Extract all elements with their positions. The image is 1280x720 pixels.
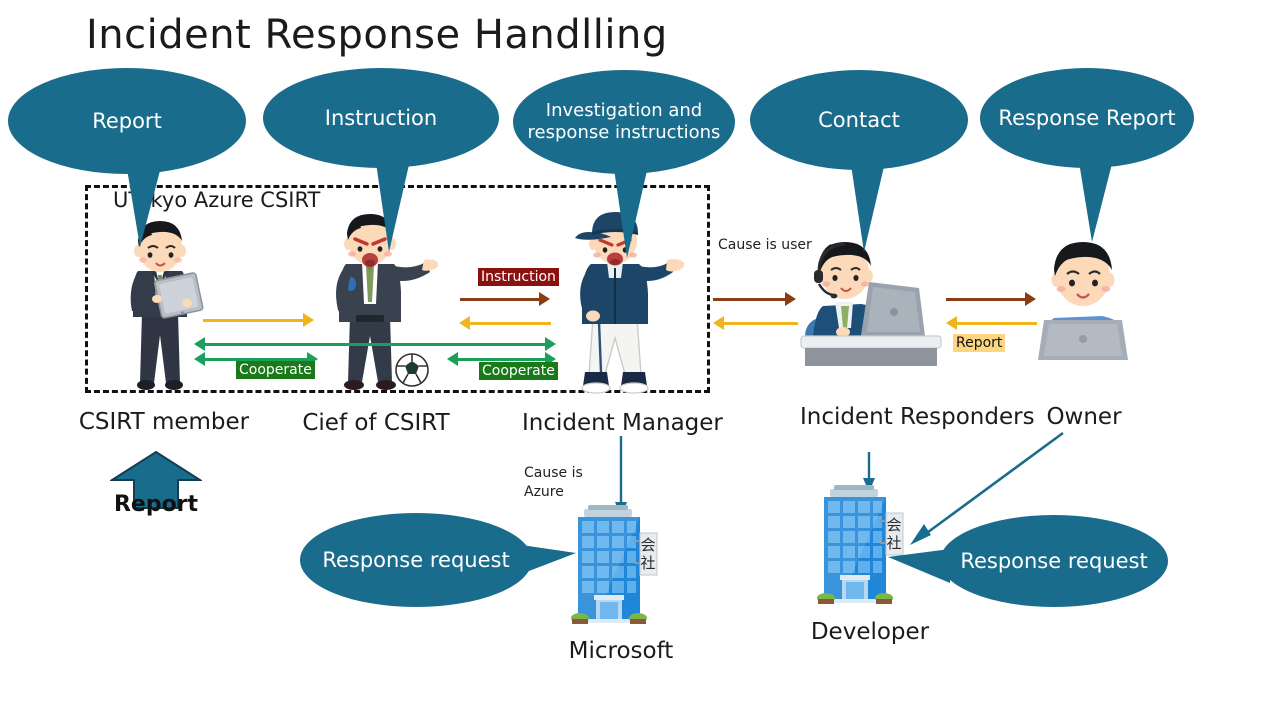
tag-report-right: Report — [953, 334, 1005, 352]
svg-text:社: 社 — [640, 554, 655, 572]
arrowhead-manager-to-chief — [459, 316, 470, 330]
bubble-contact-label: Contact — [750, 70, 968, 170]
bubble-report[interactable]: Report — [8, 68, 246, 174]
tag-cooperate-left: Cooperate — [236, 361, 315, 379]
bubble-contact-tail — [850, 158, 886, 252]
microsoft-building-icon: 会 社 — [566, 505, 676, 630]
bubble-investigation-tail — [613, 162, 649, 258]
bubble-rrd-label: Response request — [940, 515, 1168, 607]
arrowhead-member-to-chief — [303, 313, 314, 327]
tag-cooperate-right: Cooperate — [479, 362, 558, 380]
arrow-member-to-chief-yellow — [203, 319, 306, 322]
page-title: Incident Response Handlling — [86, 12, 668, 58]
tag-instruction: Instruction — [478, 268, 559, 286]
label-cause-is-azure-line2: Azure — [524, 483, 564, 502]
arrow-owner-to-responders — [955, 322, 1037, 325]
arrow-manager-to-member-green — [203, 343, 548, 346]
bubble-report-label: Report — [8, 68, 246, 174]
arrowhead-owner-to-responders — [946, 316, 957, 330]
arrow-responders-to-manager — [722, 322, 798, 325]
svg-text:会: 会 — [640, 536, 655, 554]
role-label-microsoft: Microsoft — [545, 637, 697, 666]
incident-responders-figure — [795, 232, 945, 372]
bubble-response-request-microsoft[interactable]: Response request — [300, 513, 532, 607]
bubble-contact[interactable]: Contact — [750, 70, 968, 170]
bubble-response-report-tail — [1078, 156, 1114, 242]
bubble-report-tail — [126, 163, 162, 247]
role-label-developer: Developer — [800, 618, 940, 647]
role-label-chief-of-csirt: Cief of CSIRT — [296, 409, 456, 438]
arrow-manager-to-responders — [713, 298, 788, 301]
label-cause-is-user: Cause is user — [718, 236, 812, 255]
report-arrow-label: Report — [110, 492, 202, 517]
role-label-incident-manager: Incident Manager — [522, 409, 718, 438]
arrow-manager-to-chief-yellow — [468, 322, 551, 325]
role-label-csirt-member: CSIRT member — [78, 408, 250, 437]
bubble-response-request-developer[interactable]: Response request — [940, 515, 1168, 607]
arrow-chief-to-manager-brown — [460, 298, 542, 301]
arrowhead-cooperate-left-1 — [194, 352, 205, 366]
label-cause-is-azure-line1: Cause is — [524, 464, 583, 483]
bubble-response-report[interactable]: Response Report — [980, 68, 1194, 168]
arrow-responders-to-owner — [946, 298, 1028, 301]
arrow-chief-manager-cooperate — [455, 358, 547, 361]
arrowhead-instruction — [539, 292, 550, 306]
bubble-rrm-label: Response request — [300, 513, 532, 607]
arrowhead-cooperate-right-1 — [447, 352, 458, 366]
arrowhead-green-long-right — [545, 337, 556, 351]
arrowhead-responders-to-manager — [713, 316, 724, 330]
bubble-investigation[interactable]: Investigation and response instructions — [513, 70, 735, 174]
bubble-investigation-label: Investigation and response instructions — [513, 70, 735, 174]
bubble-response-report-label: Response Report — [980, 68, 1194, 168]
arrowhead-responders-to-owner — [1025, 292, 1036, 306]
arrowhead-green-long-left — [194, 337, 205, 351]
owner-figure — [1028, 232, 1138, 372]
diagram-canvas: Incident Response Handlling UTokyo Azure… — [0, 0, 1280, 720]
bubble-instruction[interactable]: Instruction — [263, 68, 499, 168]
arrowhead-manager-to-responders — [785, 292, 796, 306]
bubble-instruction-tail — [375, 156, 411, 252]
bubble-instruction-label: Instruction — [263, 68, 499, 168]
